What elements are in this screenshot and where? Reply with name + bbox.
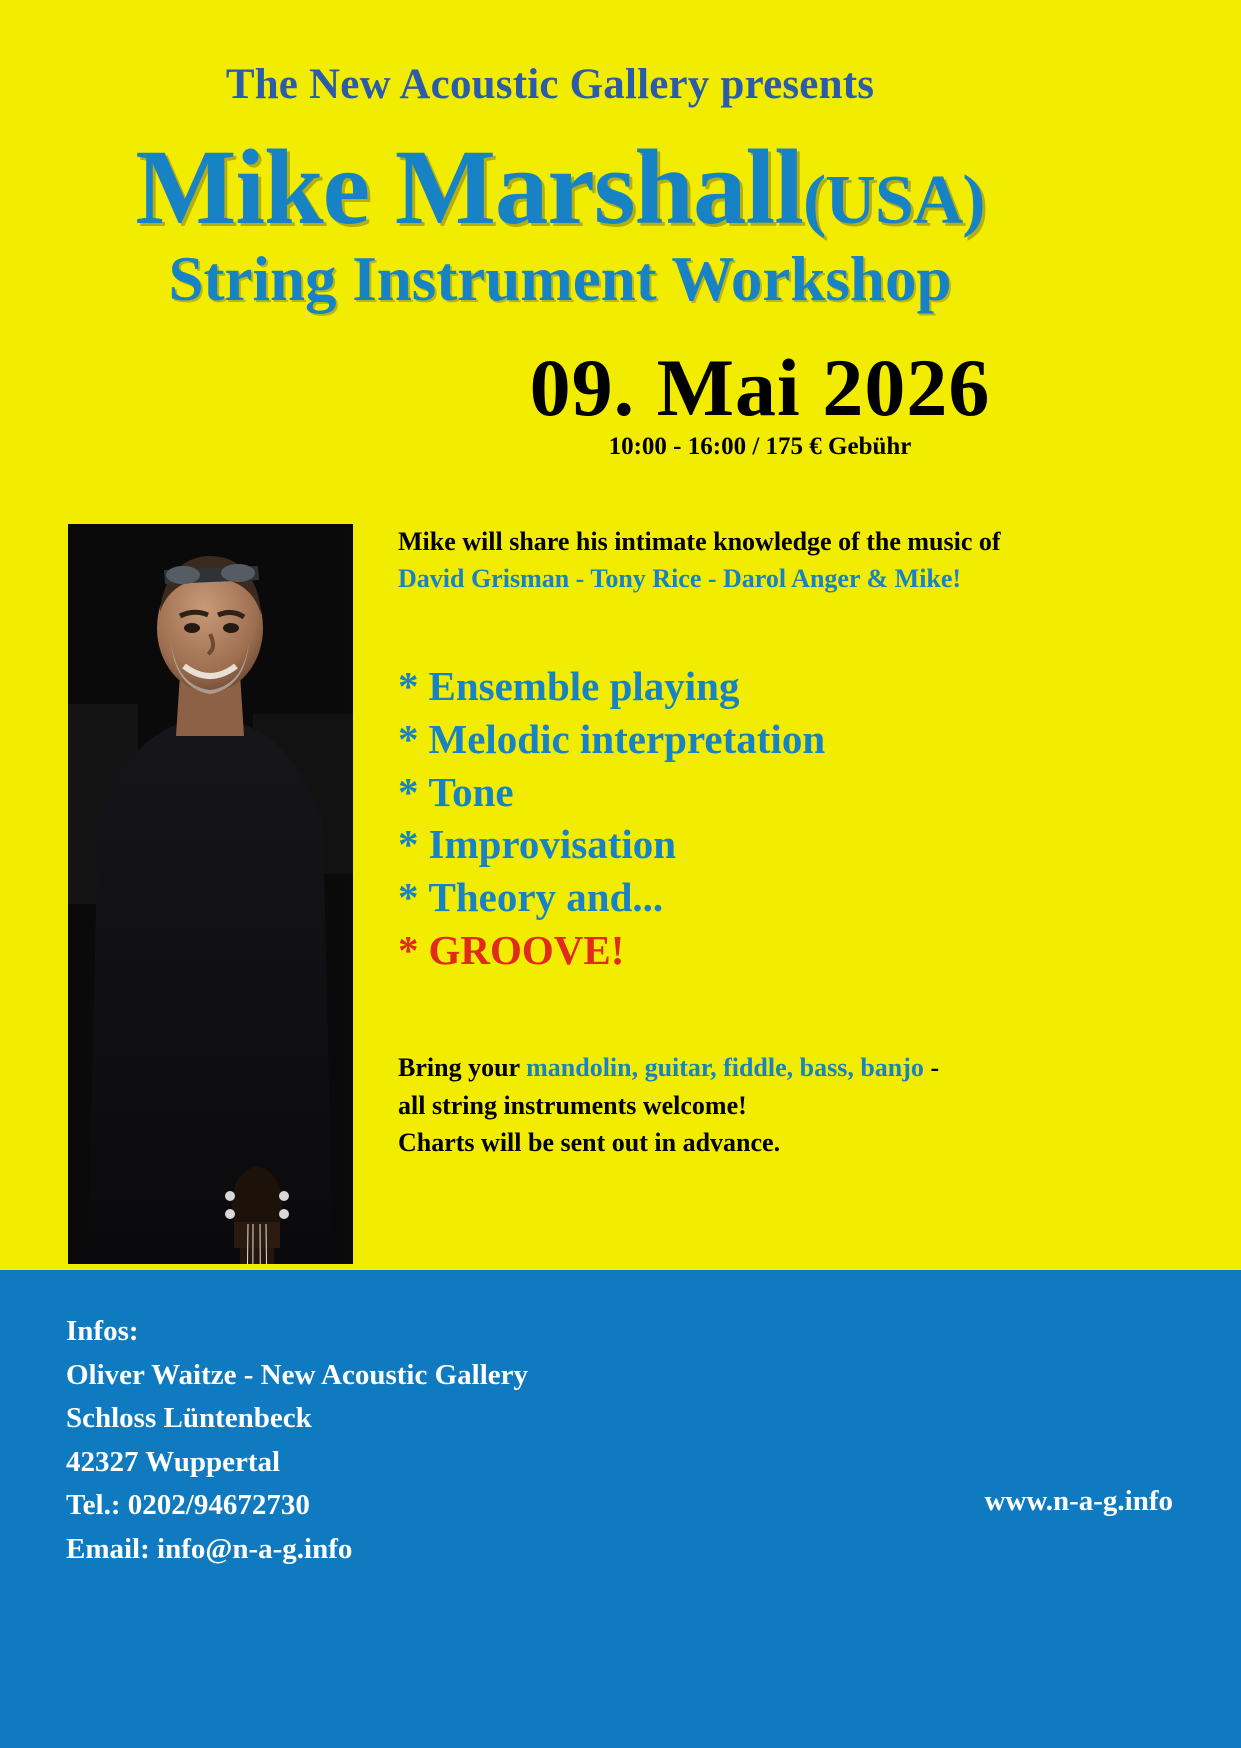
artist-photo <box>68 524 353 1264</box>
event-time-fee: 10:00 - 16:00 / 175 € Gebühr <box>460 433 1060 461</box>
body-column: Mike will share his intimate knowledge o… <box>398 524 1098 1162</box>
list-item-groove: *GROOVE! <box>398 924 1098 977</box>
bring-line-3: Charts will be sent out in advance. <box>398 1124 1098 1162</box>
workshop-subtitle: String Instrument Workshop <box>0 246 1120 312</box>
contact-city: 42327 Wuppertal <box>66 1441 528 1485</box>
poster-root: The New Acoustic Gallery presents Mike M… <box>0 0 1241 1748</box>
list-item: *Improvisation <box>398 818 1098 871</box>
bring-paragraph: Bring your mandolin, guitar, fiddle, bas… <box>398 1049 1098 1162</box>
bring-line-2: all string instruments welcome! <box>398 1087 1098 1125</box>
intro-line-1: Mike will share his intimate knowledge o… <box>398 524 1098 561</box>
presents-line: The New Acoustic Gallery presents <box>0 60 1100 109</box>
artist-name: Mike Marshall <box>135 129 803 247</box>
asterisk-icon: * <box>398 769 419 815</box>
intro-line-2: David Grisman - Tony Rice - Darol Anger … <box>398 561 1098 598</box>
list-item: *Melodic interpretation <box>398 713 1098 766</box>
contact-phone[interactable]: Tel.: 0202/94672730 <box>66 1484 528 1528</box>
contact-organizer: Oliver Waitze - New Acoustic Gallery <box>66 1354 528 1398</box>
asterisk-icon: * <box>398 874 419 920</box>
asterisk-icon: * <box>398 716 419 762</box>
list-item-label: Theory and... <box>429 874 664 920</box>
list-item-label: Tone <box>429 769 514 815</box>
list-item-label: Ensemble playing <box>429 663 740 709</box>
contact-block: Infos: Oliver Waitze - New Acoustic Gall… <box>66 1310 528 1571</box>
list-item-label: GROOVE! <box>429 927 625 973</box>
footer-band: Infos: Oliver Waitze - New Acoustic Gall… <box>0 1270 1241 1748</box>
asterisk-icon: * <box>398 927 419 973</box>
website-link[interactable]: www.n-a-g.info <box>984 1485 1173 1518</box>
bring-suffix: - <box>924 1053 939 1082</box>
bring-prefix: Bring your <box>398 1053 526 1082</box>
list-item-label: Improvisation <box>429 821 677 867</box>
event-date: 09. Mai 2026 <box>460 345 1060 431</box>
contact-heading: Infos: <box>66 1310 528 1354</box>
list-item-label: Melodic interpretation <box>429 716 826 762</box>
list-item: *Theory and... <box>398 871 1098 924</box>
artist-country: (USA) <box>803 162 985 239</box>
date-block: 09. Mai 2026 10:00 - 16:00 / 175 € Gebüh… <box>460 345 1060 461</box>
contact-email[interactable]: Email: info@n-a-g.info <box>66 1528 528 1572</box>
artist-title-line: Mike Marshall(USA) <box>0 135 1120 242</box>
contact-street: Schloss Lüntenbeck <box>66 1397 528 1441</box>
artist-photo-illustration <box>68 524 353 1264</box>
asterisk-icon: * <box>398 663 419 709</box>
topic-list: *Ensemble playing *Melodic interpretatio… <box>398 660 1098 977</box>
bring-line-1: Bring your mandolin, guitar, fiddle, bas… <box>398 1049 1098 1087</box>
list-item: *Tone <box>398 766 1098 819</box>
list-item: *Ensemble playing <box>398 660 1098 713</box>
title-block: Mike Marshall(USA) String Instrument Wor… <box>0 135 1120 312</box>
instrument-list: mandolin, guitar, fiddle, bass, banjo <box>526 1053 924 1082</box>
asterisk-icon: * <box>398 821 419 867</box>
